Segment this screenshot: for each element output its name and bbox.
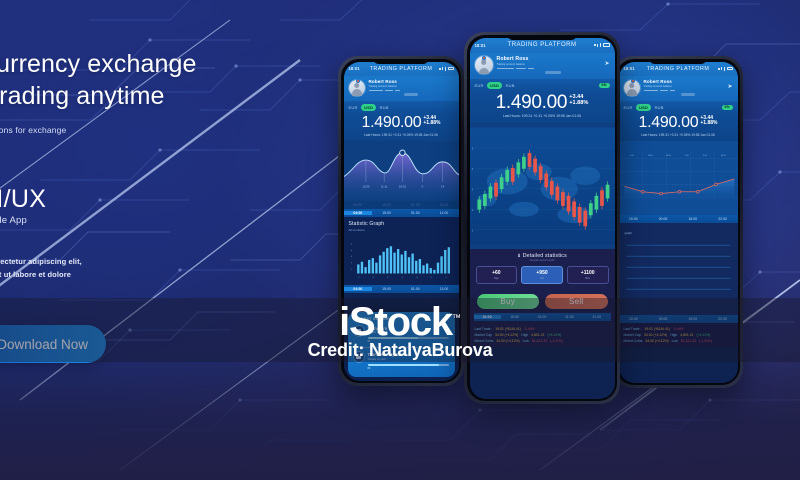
svg-text:07: 07 xyxy=(401,277,403,279)
line-chart: 0.0014.0034.00 3.003.0004.00 xyxy=(619,141,738,215)
currency-tab-rub[interactable]: RUB xyxy=(380,105,389,110)
svg-text:03: 03 xyxy=(372,277,374,279)
svg-text:16:02: 16:02 xyxy=(398,184,406,188)
svg-text:09: 09 xyxy=(416,277,418,279)
setting-name: Transfers xyxy=(368,326,449,331)
send-icon[interactable]: ➤ xyxy=(727,83,732,90)
statistic-graph-panel: Statistic Graph All mentions 543 21 xyxy=(344,217,459,286)
timeline2-seg-0[interactable]: 04:00 xyxy=(344,287,373,291)
notification-dot xyxy=(482,56,486,60)
price-value: 1.490.00 xyxy=(496,93,568,112)
svg-text:1: 1 xyxy=(350,269,352,271)
timeline-right[interactable]: 15:00 00:00 15:00 22:00 xyxy=(619,215,738,223)
stats-extra: (+4.12%) xyxy=(697,333,711,337)
detailed-statistics-panel: ⬇ Detailed statistics Compare period res… xyxy=(470,249,615,289)
stat-card-sep[interactable]: +60 Sep xyxy=(476,266,518,283)
sell-button[interactable]: Sell xyxy=(545,294,608,309)
currency-tabs[interactable]: EUR USD RUB EN xyxy=(619,101,738,113)
stat-cards: +60 Sep +950 Oct +1100 Nov xyxy=(476,266,609,283)
notification-dot xyxy=(356,79,360,83)
currency-tabs[interactable]: EUR USD RUB EN xyxy=(470,79,615,91)
stats-extra: (-1.41%) xyxy=(550,339,563,343)
phone-right-screen: 18:01 TRADING PLATFORM Robert Ross Tradi… xyxy=(619,62,738,383)
stat-card-value: +60 xyxy=(479,270,515,276)
currency-tab-eur[interactable]: EUR xyxy=(624,105,633,110)
phone-notch xyxy=(649,59,706,64)
buy-button[interactable]: Buy xyxy=(477,294,540,309)
price-delta-pct: +1.88% xyxy=(700,121,717,127)
profile-action-button[interactable] xyxy=(545,71,561,74)
currency-tab-rub[interactable]: RUB xyxy=(506,83,515,88)
currency-tab-usd[interactable]: USD xyxy=(636,104,651,111)
price-delta-pct: +1.88% xyxy=(423,121,440,127)
stats-row: Mined Coins 34.00 (+4.12%) Low $1,421.33… xyxy=(475,339,610,343)
profile-action-button[interactable] xyxy=(404,93,418,96)
stats-value: 19:01 (^$144.41) xyxy=(495,327,521,331)
price-delta-pct: +1.88% xyxy=(569,100,588,106)
language-badge[interactable]: EN xyxy=(722,105,733,111)
stat-card-oct[interactable]: +950 Oct xyxy=(521,266,563,283)
stat-card-value: +950 xyxy=(524,270,560,276)
currency-tab-rub[interactable]: RUB xyxy=(655,105,664,110)
phone-notch xyxy=(373,59,428,64)
timeline-center[interactable]: 04:00 15:00 01:00 11:00 21:00 xyxy=(474,313,611,321)
timeline-seg-1[interactable]: 00:00 xyxy=(648,217,678,221)
area-chart: 12:0011:11 16:02014 xyxy=(344,141,459,201)
detailed-statistics-title: ⬇ Detailed statistics xyxy=(476,253,609,259)
svg-text:04.00: 04.00 xyxy=(720,155,725,157)
stats-label: Last Trade : xyxy=(624,327,642,331)
status-icons xyxy=(594,43,609,48)
svg-text:3.00: 3.00 xyxy=(703,155,707,157)
svg-text:2: 2 xyxy=(350,263,352,265)
stats-label2: High xyxy=(521,333,528,337)
timeline-seg-0[interactable]: 04:00 xyxy=(474,315,501,319)
timeline-ghost-1: 15:00 xyxy=(372,203,401,207)
stats-label: Mined Coins xyxy=(475,339,494,343)
phone-left-screen: 18:01 TRADING PLATFORM Robert Ross Tradi… xyxy=(344,62,459,381)
stats-extra: -0.44% xyxy=(673,327,684,331)
phone-center[interactable]: 18:01 TRADING PLATFORM Robert Ross Tradi… xyxy=(464,32,620,404)
stats-value2: $1,421.33 xyxy=(681,339,696,343)
svg-text:05: 05 xyxy=(387,277,389,279)
svg-text:3.00: 3.00 xyxy=(684,155,688,157)
profile-action-button[interactable] xyxy=(681,93,695,96)
svg-text:34.00: 34.00 xyxy=(666,155,671,157)
profile-meta: Trading account balance xyxy=(644,85,733,88)
hero-headline: Currency exchange , trading anytime xyxy=(0,48,248,112)
svg-text:3: 3 xyxy=(350,256,352,258)
setting-value: 50 xyxy=(368,340,449,343)
price-value: 1.490.00 xyxy=(362,115,422,131)
timeline-seg-3[interactable]: 11:00 xyxy=(556,315,583,319)
download-arrow-icon: ⬇ xyxy=(517,253,521,258)
last-hours-text: Last Hours: 199.31 +0.31 +0.05% 19:55 Ja… xyxy=(350,133,453,137)
stats-list: Last Trade : 19:01 (^$144.41) -0.44% Mar… xyxy=(470,323,615,347)
timeline-ghost-3: 11:00 xyxy=(430,203,459,207)
stats-value: 34.00 (+4.12%) xyxy=(495,333,518,337)
svg-text:14.00: 14.00 xyxy=(647,155,652,157)
timeline-seg-4[interactable]: 21:00 xyxy=(583,315,610,319)
stat-card-month: Oct xyxy=(524,277,560,280)
timeline-seg-3[interactable]: 22:00 xyxy=(708,217,738,221)
hero-uiux-title: UI/UX xyxy=(0,185,248,214)
timeline-seg-2[interactable]: 01:00 xyxy=(401,211,430,215)
timeline-seg-0[interactable]: 04:00 xyxy=(344,211,373,215)
status-icons xyxy=(718,67,732,71)
profile-bars xyxy=(644,90,733,91)
statistic-graph-title: Statistic Graph xyxy=(349,221,454,227)
hero-lorem-line1: , consectetur adipiscing elit, xyxy=(0,257,82,266)
stats-row: Market Cap 34.00 (+4.12%) High 4,801.21 … xyxy=(624,333,733,337)
timeline2-seg-1[interactable]: 00:00 xyxy=(648,317,678,321)
svg-text:13: 13 xyxy=(445,277,447,279)
app-title: TRADING PLATFORM xyxy=(470,42,615,48)
hero-uiux-subtitle: Mobile App xyxy=(0,215,248,226)
timeline-seg-3[interactable]: 11:00 xyxy=(430,211,459,215)
timeline-left[interactable]: 04:00 15:00 01:00 11:00 xyxy=(344,209,459,217)
svg-text:14: 14 xyxy=(440,184,444,188)
download-now-button[interactable]: Download Now xyxy=(0,325,106,363)
stats-extra: (-1.41%) xyxy=(699,339,712,343)
stats-row: Last Trade : 19:01 (^$144.41) -0.44% xyxy=(624,327,733,331)
stats-value: 34.00 (+4.12%) xyxy=(645,339,668,343)
phone-center-screen: 18:01 TRADING PLATFORM Robert Ross Tradi… xyxy=(470,38,615,399)
timeline2-seg-3[interactable]: 11:00 xyxy=(430,287,459,291)
svg-text:11:11: 11:11 xyxy=(380,184,387,188)
stats-label2: Low xyxy=(523,339,529,343)
payment-settings-card: PAYMENT SETTINGS Transfers Transfer to c… xyxy=(348,312,455,377)
phone-notch xyxy=(508,35,577,40)
price-value: 1.490.00 xyxy=(639,115,699,131)
svg-text:5: 5 xyxy=(350,244,352,246)
language-badge[interactable]: EN xyxy=(599,83,610,89)
phone-right[interactable]: 18:01 TRADING PLATFORM Robert Ross Tradi… xyxy=(613,56,743,388)
stats-value: 34.00 (+4.12%) xyxy=(644,333,667,337)
profile-header[interactable]: Robert Ross Trading account balance ➤ xyxy=(619,76,738,102)
notification-dot xyxy=(631,79,635,83)
bar-chart: 543 21 xyxy=(349,235,454,283)
setting-row-transfers-my-card[interactable]: Transfers My Card Transfer my card 80 xyxy=(354,352,449,369)
setting-sub: Transfer to card xyxy=(368,331,449,334)
stats-row: Mined Coins 34.00 (+4.12%) Low $1,421.33… xyxy=(624,339,733,343)
secondary-grid-chart: graph xyxy=(619,223,738,315)
timeline-seg-1[interactable]: 15:00 xyxy=(501,315,528,319)
setting-slider[interactable] xyxy=(368,337,449,339)
stats-label: Market Cap xyxy=(624,333,642,337)
stats-label: Last Trade : xyxy=(475,327,493,331)
timeline-seg-2[interactable]: 01:00 xyxy=(528,315,555,319)
stats-value: 19:01 (^$144.41) xyxy=(644,327,670,331)
poster-canvas: Currency exchange , trading anytime solu… xyxy=(0,0,800,480)
timeline-seg-0[interactable]: 15:00 xyxy=(619,217,649,221)
stats-label2: Low xyxy=(672,339,678,343)
stats-extra: (+4.12%) xyxy=(548,333,562,337)
svg-text:01: 01 xyxy=(358,277,360,279)
hero-lorem-line2: didunt ut labore et dolore xyxy=(0,270,71,279)
price-block: 1.490.00 +3.44 +1.88% Last Hours: 199.31… xyxy=(470,91,615,123)
stats-value2: 4,801.21 xyxy=(531,333,544,337)
timeline-right-2[interactable]: 15:00 00:00 15:00 22:00 xyxy=(619,315,738,323)
timeline2-seg-0[interactable]: 15:00 xyxy=(619,317,649,321)
timeline-left-2[interactable]: 04:00 15:00 01:00 11:00 xyxy=(344,285,459,293)
hero-headline-line2: , trading anytime xyxy=(0,82,165,110)
svg-text:11: 11 xyxy=(430,277,432,279)
stats-label: Market Cap xyxy=(475,333,493,337)
currency-tab-usd[interactable]: USD xyxy=(361,104,376,111)
profile-meta: Trading account balance xyxy=(497,63,610,66)
divider xyxy=(354,347,449,348)
timeline-ghost: 04:00 15:00 01:00 11:00 xyxy=(344,201,459,209)
card-icon xyxy=(354,352,364,362)
stats-label2: High xyxy=(670,333,677,337)
setting-row-transfers[interactable]: Transfers Transfer to card 50 xyxy=(354,326,449,343)
setting-name: Transfers My Card xyxy=(368,352,449,357)
price-block: 1.490.00 +3.44 +1.88% Last Hours: 199.31… xyxy=(344,113,459,141)
setting-slider[interactable] xyxy=(368,364,449,366)
hero-copy: Currency exchange , trading anytime solu… xyxy=(0,48,248,282)
currency-tab-usd[interactable]: USD xyxy=(487,82,502,89)
profile-name: Robert Ross xyxy=(369,79,454,84)
detailed-statistics-subtitle: Compare period results xyxy=(476,259,609,262)
hero-subtitle: solutions for exchange xyxy=(0,125,248,135)
profile-name: Robert Ross xyxy=(497,56,610,62)
stats-value: 34.00 (+4.12%) xyxy=(496,339,519,343)
profile-meta: Trading account balance xyxy=(369,85,454,88)
timeline2-seg-1[interactable]: 15:00 xyxy=(372,287,401,291)
stat-card-month: Sep xyxy=(479,277,515,280)
stats-row: Last Trade : 19:01 (^$144.41) -0.44% xyxy=(475,327,610,331)
stats-list: Last Trade : 19:01 (^$144.41) -0.44% Mar… xyxy=(619,323,738,347)
hero-headline-line1: Currency exchange xyxy=(0,50,197,78)
statistic-graph-subtitle: All mentions xyxy=(349,228,454,232)
stats-value2: $1,421.33 xyxy=(532,339,547,343)
phone-left[interactable]: 18:01 TRADING PLATFORM Robert Ross Tradi… xyxy=(338,56,464,386)
download-now-label: Download Now xyxy=(0,337,88,352)
svg-text:0.00: 0.00 xyxy=(629,155,633,157)
timeline2-seg-2[interactable]: 15:00 xyxy=(678,317,708,321)
currency-tab-eur[interactable]: EUR xyxy=(475,83,484,88)
timeline2-seg-3[interactable]: 22:00 xyxy=(708,317,738,321)
timeline-seg-2[interactable]: 15:00 xyxy=(678,217,708,221)
timeline-ghost-0: 04:00 xyxy=(344,203,373,207)
trade-actions: Buy Sell xyxy=(470,289,615,313)
timeline-ghost-2: 01:00 xyxy=(401,203,430,207)
setting-value: 80 xyxy=(368,367,449,370)
currency-tab-eur[interactable]: EUR xyxy=(349,105,358,110)
svg-text:12:00: 12:00 xyxy=(362,184,370,188)
stat-card-value: +1100 xyxy=(570,270,606,276)
setting-sub: Transfer my card xyxy=(368,358,449,361)
last-hours-text: Last Hours: 199.31 +0.31 +0.05% 19:55 Ja… xyxy=(625,133,732,137)
payment-settings-title: PAYMENT SETTINGS xyxy=(354,317,449,321)
hero-lorem: , consectetur adipiscing elit, didunt ut… xyxy=(0,256,248,282)
stat-card-month: Nov xyxy=(570,277,606,280)
send-icon[interactable]: ➤ xyxy=(604,60,609,67)
svg-text:4: 4 xyxy=(350,250,352,252)
graph-label: graph xyxy=(624,231,632,235)
stats-row: Market Cap 34.00 (+4.12%) High 4,801.21 … xyxy=(475,333,610,337)
status-icons xyxy=(439,67,453,71)
stats-extra: -0.44% xyxy=(524,327,535,331)
profile-name: Robert Ross xyxy=(644,79,733,84)
currency-tabs[interactable]: EUR USD RUB xyxy=(344,101,459,113)
last-hours-text: Last Hours: 199.31 +0.31 +0.05% 19:55 Ja… xyxy=(476,114,609,118)
price-block: 1.490.00 +3.44 +1.88% Last Hours: 199.31… xyxy=(619,113,738,141)
stats-label: Mined Coins xyxy=(624,339,643,343)
timeline2-seg-2[interactable]: 01:00 xyxy=(401,287,430,291)
candlestick-chart: 543 21 xyxy=(470,123,615,249)
stats-value2: 4,801.21 xyxy=(680,333,693,337)
profile-bars xyxy=(369,90,454,91)
profile-bars xyxy=(497,68,610,69)
timeline-seg-1[interactable]: 15:00 xyxy=(372,211,401,215)
card-icon xyxy=(354,326,364,336)
profile-header[interactable]: Robert Ross Trading account balance ➤ xyxy=(470,53,615,80)
profile-header[interactable]: Robert Ross Trading account balance xyxy=(344,76,459,102)
stat-card-nov[interactable]: +1100 Nov xyxy=(567,266,609,283)
